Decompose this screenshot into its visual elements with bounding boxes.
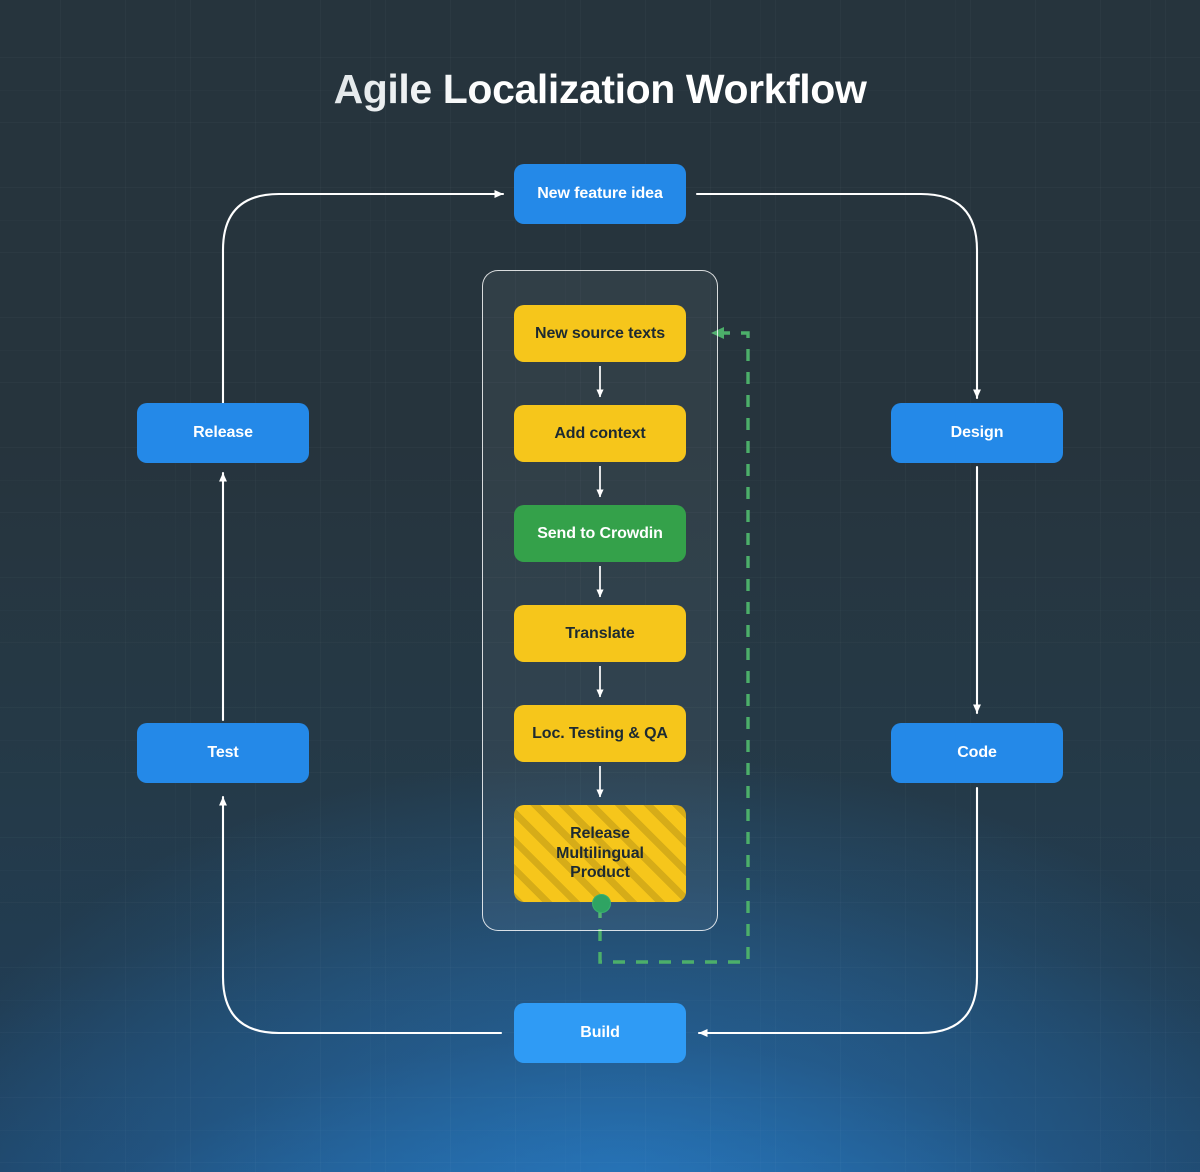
node-release-multilingual-product[interactable]: Release Multilingual Product <box>514 805 686 902</box>
edge-release-to-new-feature-idea <box>223 194 503 405</box>
feedback-loop-origin-dot <box>592 894 611 913</box>
node-test-label: Test <box>207 743 238 763</box>
node-build-label: Build <box>580 1023 620 1043</box>
edge-build-to-test <box>223 797 501 1033</box>
node-code-label: Code <box>957 743 997 763</box>
node-add-context-label: Add context <box>554 424 645 444</box>
node-release-multilingual-product-label-line1: Release <box>570 824 630 844</box>
node-release[interactable]: Release <box>137 403 309 463</box>
node-translate-label: Translate <box>565 624 634 644</box>
edge-code-to-build <box>699 788 977 1033</box>
node-release-multilingual-product-label-line3: Product <box>570 863 630 883</box>
node-new-feature-idea[interactable]: New feature idea <box>514 164 686 224</box>
diagram-canvas: Agile Localization Workflow <box>0 0 1200 1172</box>
node-test[interactable]: Test <box>137 723 309 783</box>
node-release-multilingual-product-label-line2: Multilingual <box>556 844 644 864</box>
node-design[interactable]: Design <box>891 403 1063 463</box>
node-release-label: Release <box>193 423 253 443</box>
node-translate[interactable]: Translate <box>514 605 686 662</box>
edge-new-feature-idea-to-design <box>697 194 977 398</box>
node-new-source-texts-label: New source texts <box>535 324 665 344</box>
node-loc-testing-qa-label: Loc. Testing & QA <box>532 724 668 744</box>
node-design-label: Design <box>951 423 1004 443</box>
node-build[interactable]: Build <box>514 1003 686 1063</box>
node-new-feature-idea-label: New feature idea <box>537 184 663 204</box>
node-add-context[interactable]: Add context <box>514 405 686 462</box>
page-title: Agile Localization Workflow <box>0 66 1200 113</box>
node-code[interactable]: Code <box>891 723 1063 783</box>
node-new-source-texts[interactable]: New source texts <box>514 305 686 362</box>
node-send-to-crowdin[interactable]: Send to Crowdin <box>514 505 686 562</box>
node-send-to-crowdin-label: Send to Crowdin <box>537 524 663 544</box>
node-loc-testing-qa[interactable]: Loc. Testing & QA <box>514 705 686 762</box>
